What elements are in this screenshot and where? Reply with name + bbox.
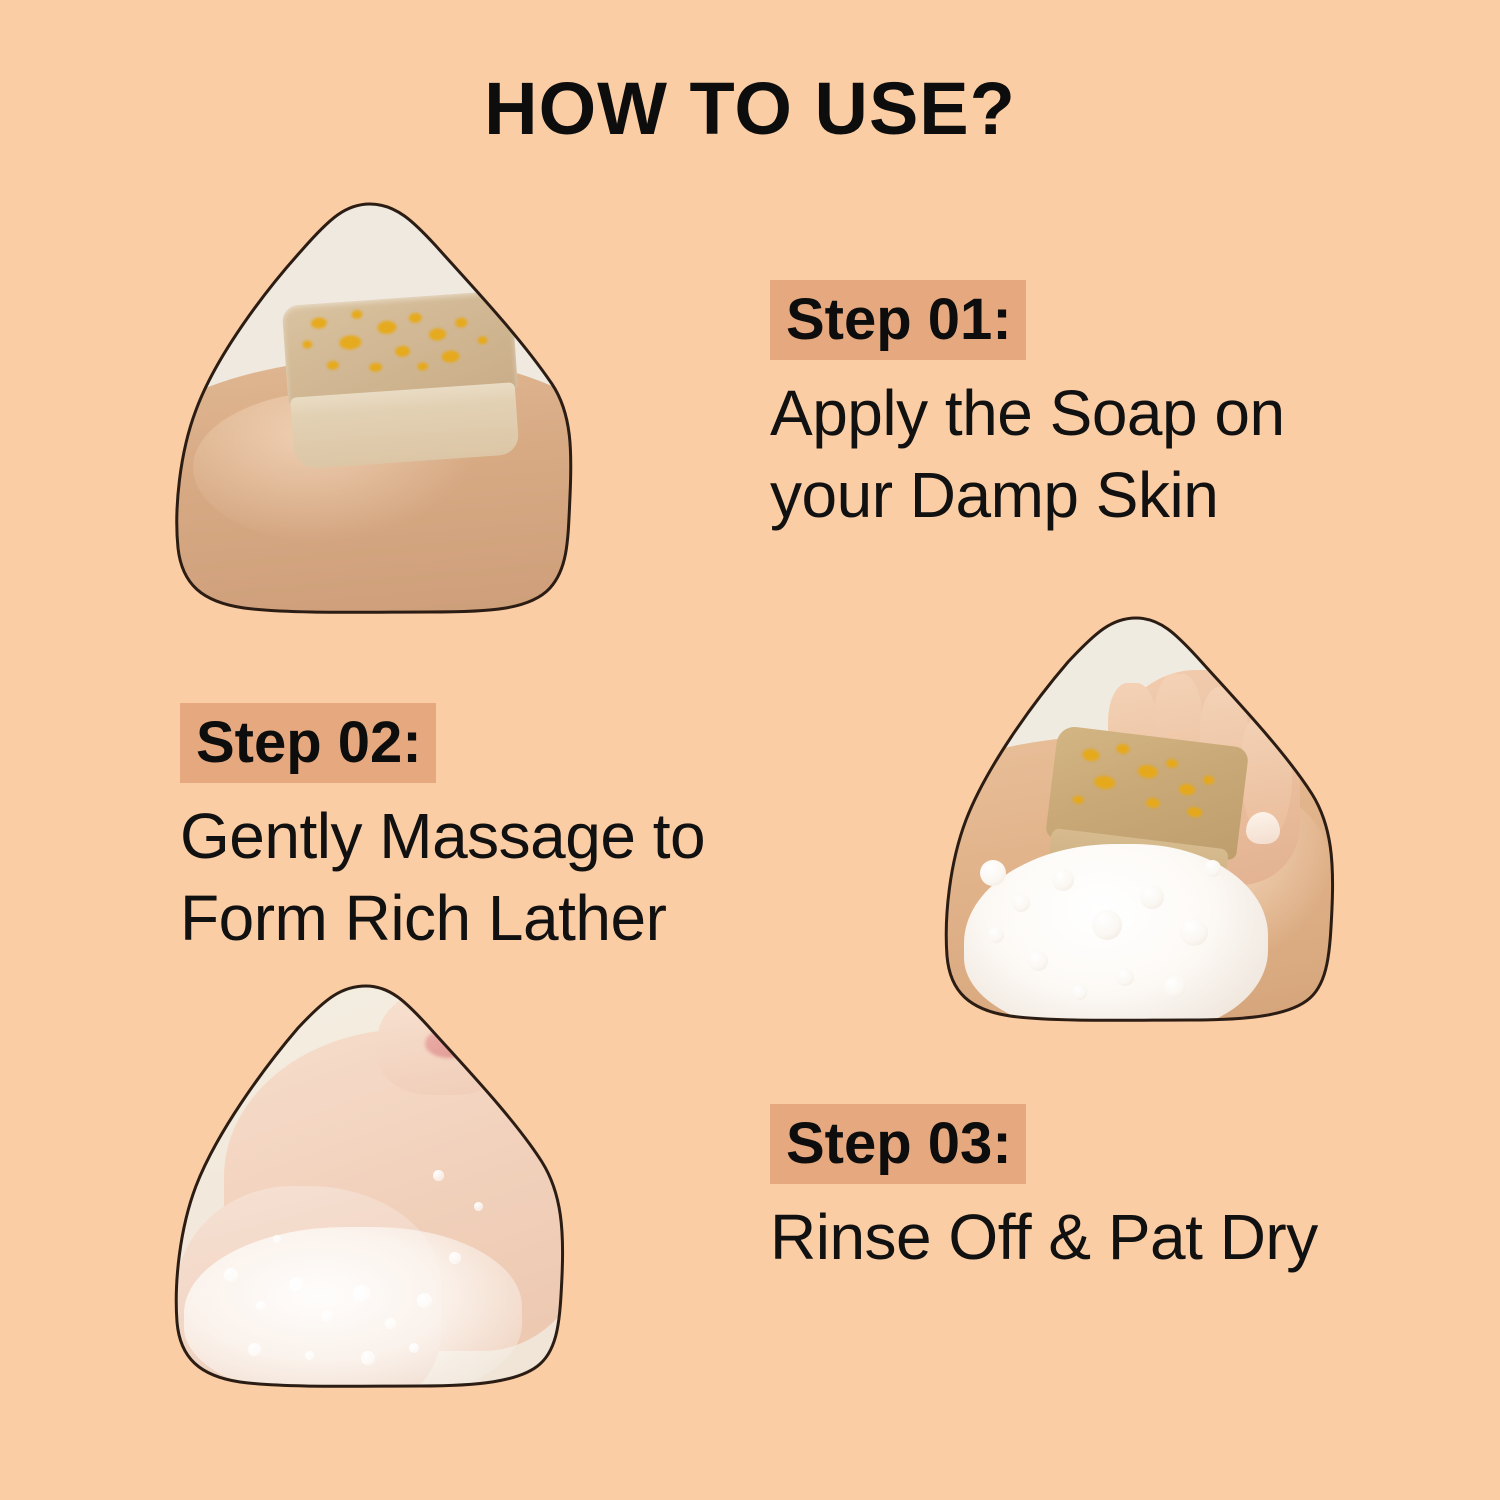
step-2-label: Step 02: [180, 703, 436, 783]
step-1-text-block: Step 01: Apply the Soap on your Damp Ski… [770, 280, 1285, 536]
soap-on-skin-artwork [168, 196, 578, 620]
step-3-image [168, 980, 570, 1392]
blob-shape-2 [940, 612, 1340, 1026]
step-2-image [940, 612, 1340, 1026]
blob-shape-1 [168, 196, 578, 620]
infographic-canvas: HOW TO USE? [0, 0, 1500, 1500]
step-2-description: Gently Massage to Form Rich Lather [180, 795, 705, 959]
step-3-text-block: Step 03: Rinse Off & Pat Dry [770, 1104, 1318, 1278]
step-1-description: Apply the Soap on your Damp Skin [770, 372, 1285, 536]
step-1-label: Step 01: [770, 280, 1026, 360]
step-2-text-block: Step 02: Gently Massage to Form Rich Lat… [180, 703, 705, 959]
face-washing-artwork [168, 980, 570, 1392]
blob-shape-3 [168, 980, 570, 1392]
hand-lather-artwork [940, 612, 1340, 1026]
page-title: HOW TO USE? [0, 72, 1500, 146]
step-1-image [168, 196, 578, 620]
step-3-description: Rinse Off & Pat Dry [770, 1196, 1318, 1278]
step-3-label: Step 03: [770, 1104, 1026, 1184]
